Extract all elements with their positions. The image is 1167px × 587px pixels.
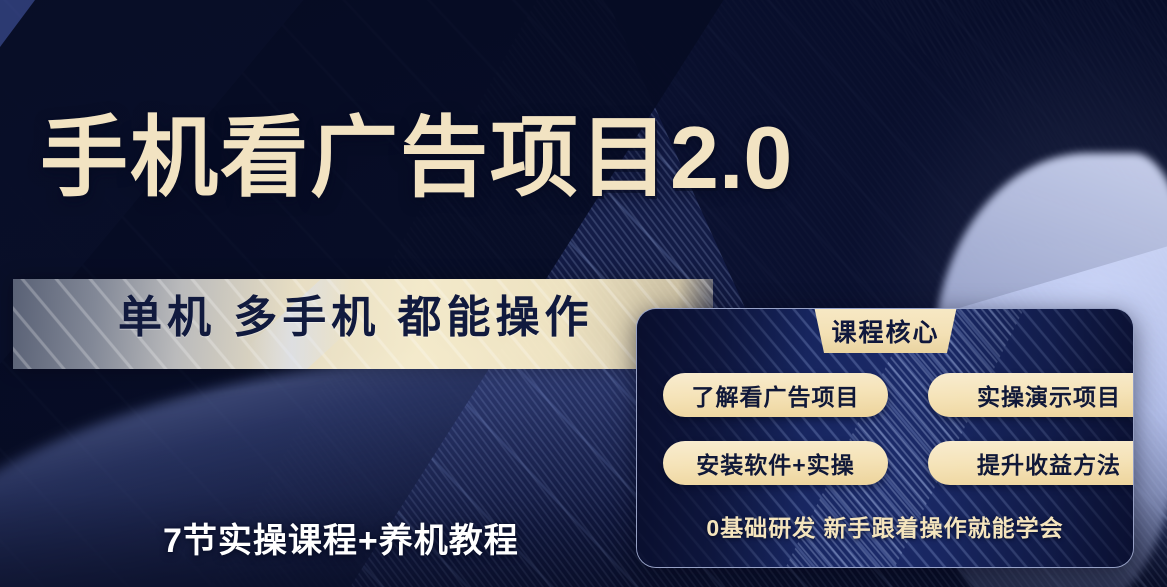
- feature-pill[interactable]: 安装软件+实操: [663, 441, 888, 485]
- card-footnote-text: 0基础研发 新手跟着操作就能学会: [637, 509, 1133, 543]
- feature-pill-label: 安装软件+实操: [696, 446, 854, 480]
- card-header-banner: 课程核心: [814, 308, 957, 353]
- feature-pill-label: 提升收益方法: [977, 446, 1121, 480]
- bottom-note-text: 7节实操课程+养机教程: [163, 524, 519, 558]
- card-header-label: 课程核心: [831, 313, 939, 349]
- page-title: 手机看广告项目2.0: [40, 114, 792, 202]
- promo-poster: 手机看广告项目2.0 单机 多手机 都能操作 7节实操课程+养机教程 课程核心 …: [0, 0, 1167, 587]
- feature-pill-row-1: 了解看广告项目 实操演示项目: [663, 373, 1134, 417]
- feature-pill[interactable]: 了解看广告项目: [663, 373, 888, 417]
- title-text: 手机看广告项目: [40, 108, 670, 207]
- subtitle-text: 单机 多手机 都能操作: [118, 296, 593, 340]
- title-version: 2.0: [670, 108, 792, 207]
- feature-pill-label: 实操演示项目: [977, 378, 1121, 412]
- course-core-card: 课程核心 了解看广告项目 实操演示项目 安装软件+实操 提升收益方法 0基础研发…: [636, 308, 1134, 568]
- feature-pill-row-2: 安装软件+实操 提升收益方法: [663, 441, 1134, 485]
- feature-pill[interactable]: 实操演示项目: [928, 373, 1134, 417]
- feature-pill-label: 了解看广告项目: [692, 378, 860, 412]
- feature-pill[interactable]: 提升收益方法: [928, 441, 1134, 485]
